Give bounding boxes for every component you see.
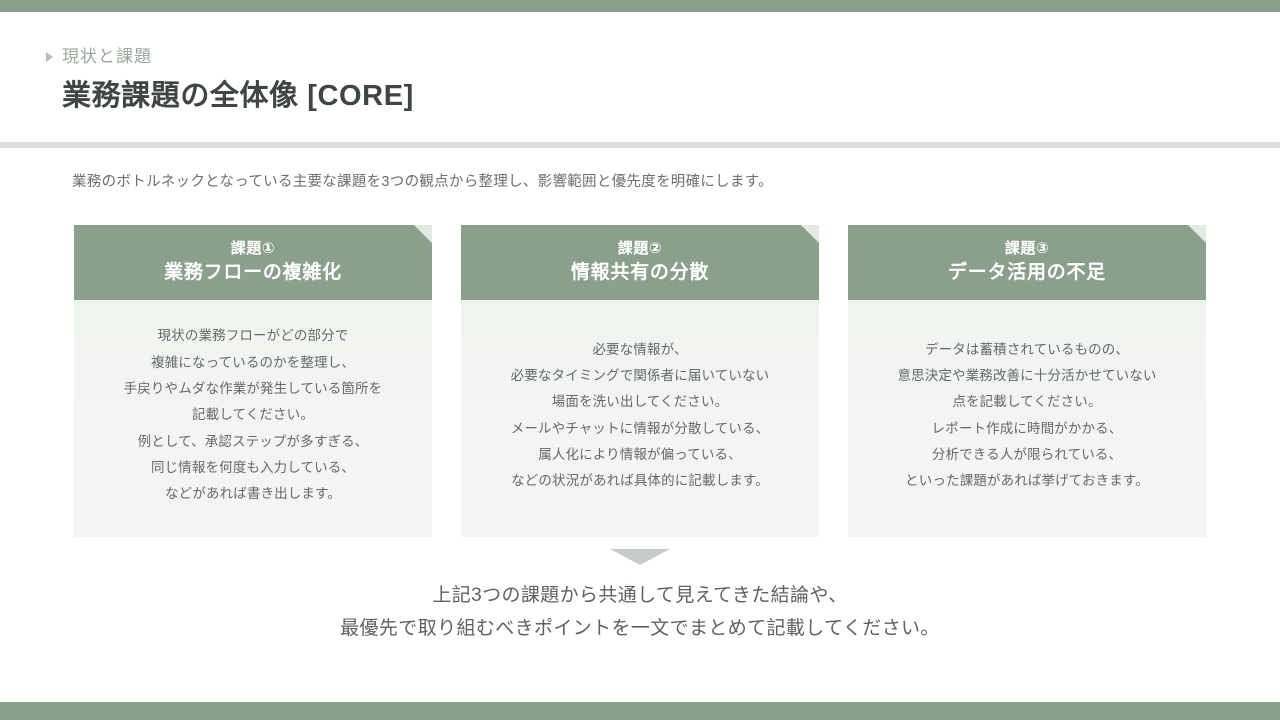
page-title: 業務課題の全体像 [CORE] — [62, 80, 414, 113]
issue-card-3-title: データ活用の不足 — [948, 261, 1106, 285]
header-divider — [0, 142, 1280, 148]
issue-card-2-number: 課題② — [618, 240, 663, 258]
issue-card-2-line-6: などの状況があれば具体的に記載します。 — [511, 468, 769, 494]
issue-card-1: 課題① 業務フローの複雑化 現状の業務フローがどの部分で 複雑になっているのかを… — [74, 225, 432, 537]
issue-card-3-line-5: 分析できる人が限られている、 — [932, 442, 1122, 468]
issue-card-1-line-2: 複雑になっているのかを整理し、 — [151, 350, 355, 376]
issue-card-3-number: 課題③ — [1005, 240, 1050, 258]
issue-card-1-body: 現状の業務フローがどの部分で 複雑になっているのかを整理し、 手戻りやムダな作業… — [74, 300, 432, 537]
issue-card-2-line-5: 属人化により情報が偏っている、 — [538, 442, 742, 468]
issue-card-1-line-7: などがあれば書き出します。 — [165, 481, 341, 507]
triangle-down-icon — [610, 549, 670, 565]
page-fold-icon — [414, 225, 432, 243]
triangle-right-icon — [46, 52, 53, 62]
issue-card-3-line-4: レポート作成に時間がかかる、 — [932, 416, 1123, 442]
issue-card-3-header: 課題③ データ活用の不足 — [848, 225, 1206, 300]
issue-card-3-line-2: 意思決定や業務改善に十分活かせていない — [897, 363, 1156, 389]
page-fold-icon — [1188, 225, 1206, 243]
issue-card-3-line-1: データは蓄積されているものの、 — [925, 337, 1129, 363]
issue-card-2-header: 課題② 情報共有の分散 — [461, 225, 819, 300]
slide: 現状と課題 業務課題の全体像 [CORE] 業務のボトルネックとなっている主要な… — [0, 0, 1280, 720]
issue-card-2-line-1: 必要な情報が、 — [592, 337, 687, 363]
issue-card-2-title: 情報共有の分散 — [571, 261, 709, 285]
issue-card-3-body: データは蓄積されているものの、 意思決定や業務改善に十分活かせていない 点を記載… — [848, 300, 1206, 537]
issue-card-1-line-5: 例として、承認ステップが多すぎる、 — [138, 429, 369, 455]
issue-card-1-line-6: 同じ情報を何度も入力している、 — [151, 455, 355, 481]
issue-card-3: 課題③ データ活用の不足 データは蓄積されているものの、 意思決定や業務改善に十… — [848, 225, 1206, 537]
issue-card-3-line-3: 点を記載してください。 — [952, 389, 1101, 415]
conclusion-block: 上記3つの課題から共通して見えてきた結論や、 最優先で取り組むべきポイントを一文… — [0, 579, 1280, 646]
issue-card-1-line-3: 手戻りやムダな作業が発生している箇所を — [124, 376, 383, 402]
breadcrumb: 現状と課題 — [46, 48, 152, 65]
bottom-accent-bar — [0, 702, 1280, 720]
issue-card-2-body: 必要な情報が、 必要なタイミングで関係者に届いていない 場面を洗い出してください… — [461, 300, 819, 537]
issue-card-1-line-4: 記載してください。 — [192, 402, 314, 428]
page-fold-icon — [801, 225, 819, 243]
issue-card-1-header: 課題① 業務フローの複雑化 — [74, 225, 432, 300]
issue-card-2-line-4: メールやチャットに情報が分散している、 — [511, 416, 770, 442]
eyebrow-label: 現状と課題 — [62, 48, 152, 65]
issue-card-2-line-3: 場面を洗い出してください。 — [552, 389, 728, 415]
lead-paragraph: 業務のボトルネックとなっている主要な課題を3つの観点から整理し、影響範囲と優先度… — [72, 172, 773, 194]
issue-card-list: 課題① 業務フローの複雑化 現状の業務フローがどの部分で 複雑になっているのかを… — [74, 225, 1206, 537]
top-accent-bar — [0, 0, 1280, 12]
issue-card-2: 課題② 情報共有の分散 必要な情報が、 必要なタイミングで関係者に届いていない … — [461, 225, 819, 537]
slide-header: 現状と課題 業務課題の全体像 [CORE] — [0, 12, 1280, 142]
issue-card-1-title: 業務フローの複雑化 — [164, 261, 342, 285]
conclusion-line-1: 上記3つの課題から共通して見えてきた結論や、 — [0, 579, 1280, 612]
issue-card-3-line-6: といった課題があれば挙げておきます。 — [905, 468, 1149, 494]
conclusion-line-2: 最優先で取り組むべきポイントを一文でまとめて記載してください。 — [0, 612, 1280, 645]
issue-card-1-line-1: 現状の業務フローがどの部分で — [158, 323, 349, 349]
issue-card-2-line-2: 必要なタイミングで関係者に届いていない — [511, 363, 770, 389]
issue-card-1-number: 課題① — [231, 240, 276, 258]
